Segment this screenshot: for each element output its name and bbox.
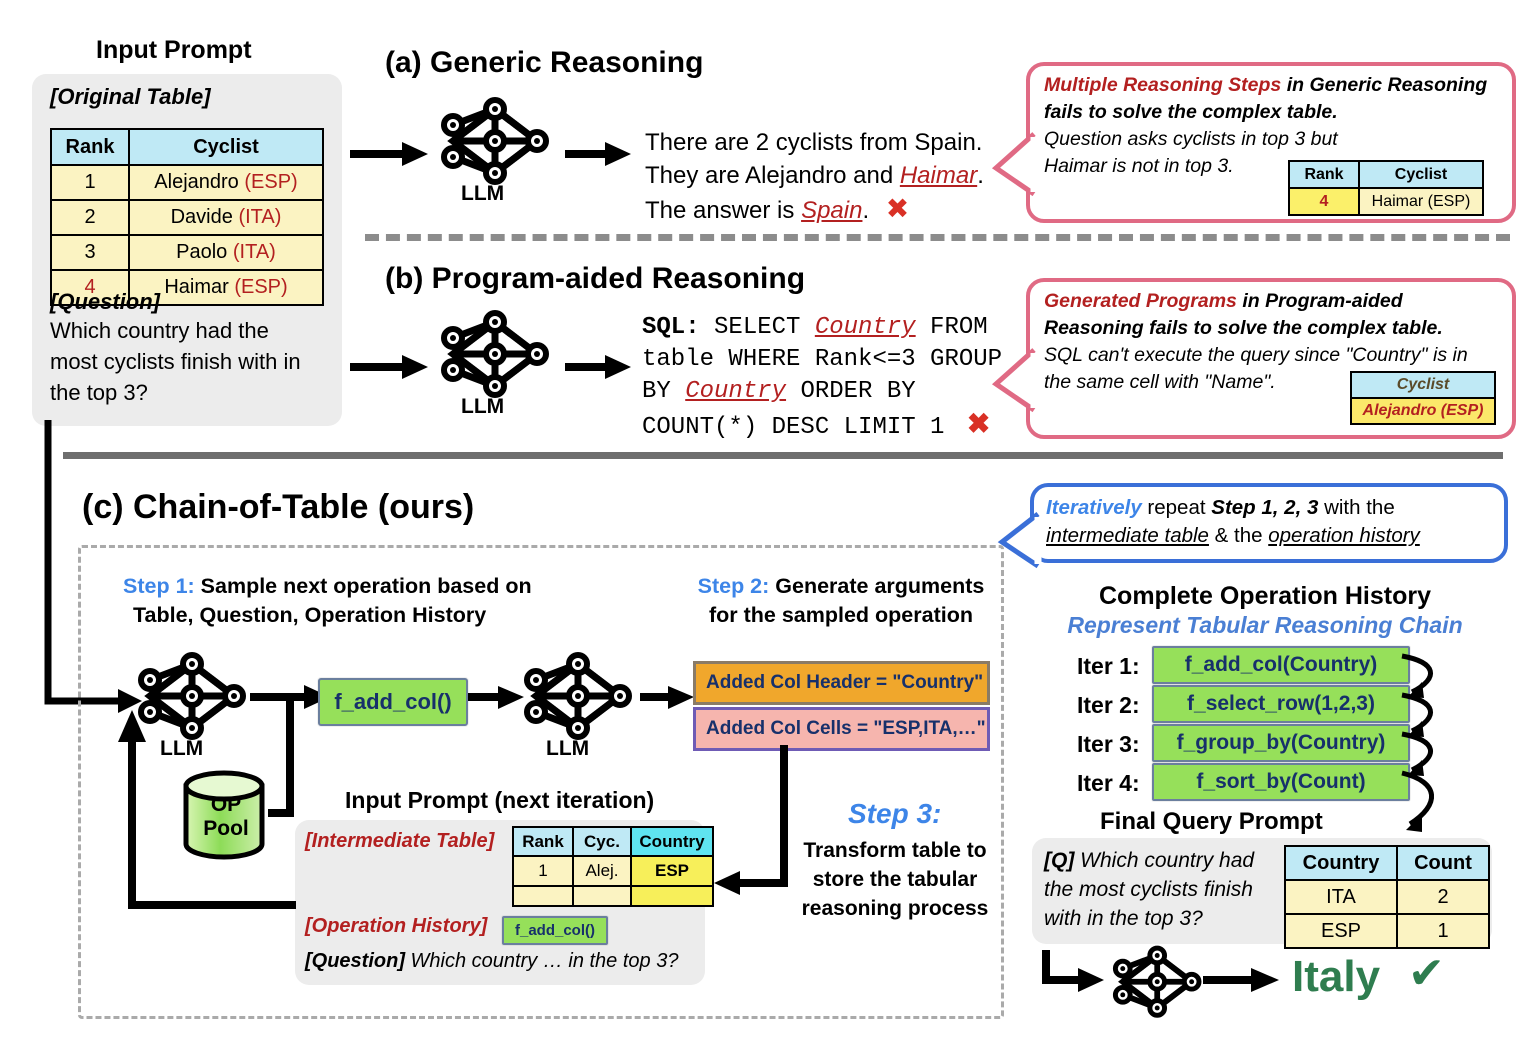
table-row: 2 Davide (ITA): [51, 200, 323, 235]
sql-l1b: FROM: [916, 314, 988, 341]
step1-heading: Step 1: Sample next operation based on T…: [123, 572, 593, 630]
step3-line1: Transform table to: [790, 836, 1000, 865]
history-op-box-3[interactable]: f_group_by(Country): [1152, 724, 1410, 762]
wrong-mark-icon: ✖: [886, 193, 909, 224]
arrow-out-llm-a: [565, 140, 635, 168]
arrow-out-llm-b: [565, 353, 635, 381]
final-cell-country: ESP: [1285, 914, 1397, 948]
sql-l4: COUNT(*) DESC LIMIT 1: [642, 414, 944, 441]
cell-cyclist: Paolo (ITA): [129, 235, 323, 270]
history-iter-label-1: Iter 1:: [1077, 653, 1140, 680]
output-line-1: There are 2 cyclists from Spain.: [645, 126, 1025, 159]
sql-l1a: SELECT: [700, 314, 815, 341]
history-chain-arrows: [1396, 650, 1466, 865]
table-row: 3 Paolo (ITA): [51, 235, 323, 270]
cyclist-country: (ESP): [234, 276, 287, 298]
callout-b-bold: Generated Programs in Program-aided Reas…: [1044, 288, 1499, 342]
callout-c-steps: Step 1, 2, 3: [1211, 496, 1318, 519]
llm-icon-c2: [518, 650, 640, 744]
sql-l3-emphasis: Country: [685, 378, 786, 405]
output-line-2: They are Alejandro and Haimar.: [645, 159, 1025, 192]
sql-line-4: COUNT(*) DESC LIMIT 1 ✖: [642, 408, 1042, 444]
mini-cell-cyclist: Haimar (ESP): [1359, 188, 1483, 215]
final-cell-count: 2: [1397, 880, 1489, 914]
original-table: Rank Cyclist 1 Alejandro (ESP) 2 Davide …: [50, 128, 324, 306]
inter-cell-country: [631, 886, 713, 906]
step2-text2: for the sampled operation: [676, 601, 1006, 630]
input-prompt-title: Input Prompt: [96, 36, 252, 65]
question-label: [Question]: [50, 289, 160, 315]
cell-rank: 1: [51, 165, 129, 200]
op-history-chip[interactable]: f_add_col(): [502, 916, 608, 945]
inter-cell-rank: [513, 886, 573, 906]
final-prompt-title: Final Query Prompt: [1100, 808, 1323, 836]
col-header-rank: Rank: [51, 129, 129, 165]
mini-cell-cyclist: Alejandro (ESP): [1351, 398, 1495, 424]
next-prompt-question: [Question] Which country … in the top 3?: [305, 950, 678, 973]
cyclist-name: Alejandro: [154, 171, 239, 193]
inter-col-cyc: Cyc.: [573, 827, 631, 856]
arrow-into-llm-a: [350, 140, 430, 168]
cell-cyclist: Davide (ITA): [129, 200, 323, 235]
cyclist-country: (ESP): [244, 171, 297, 193]
table-row: 1 Alej. ESP: [513, 856, 713, 886]
cyclist-country: (ITA): [238, 206, 281, 228]
final-col-count: Count: [1397, 846, 1489, 880]
table-row: ITA 2: [1285, 880, 1489, 914]
llm-icon-final: [1108, 944, 1208, 1022]
arrow-feedback-loop: [110, 700, 320, 915]
history-iter-label-3: Iter 3:: [1077, 731, 1140, 758]
step2-line1: Step 2: Generate arguments: [676, 572, 1006, 601]
next-question-text: Which country … in the top 3?: [405, 950, 678, 972]
history-iter-label-2: Iter 2:: [1077, 692, 1140, 719]
history-title: Complete Operation History: [1030, 582, 1500, 611]
step2-label: Step 2:: [698, 574, 770, 598]
llm-icon-b: [435, 308, 557, 402]
sql-l3b: ORDER BY: [786, 378, 916, 405]
callout-c-line2: intermediate table & the operation histo…: [1046, 522, 1496, 550]
step2-heading: Step 2: Generate arguments for the sampl…: [676, 572, 1006, 630]
separator-solid: [63, 452, 1503, 459]
cyclist-name: Haimar: [164, 276, 228, 298]
mini-col-cyclist: Cyclist: [1351, 372, 1495, 398]
callout-c-tail: [1000, 512, 1044, 572]
step3-line3: reasoning process: [790, 894, 1000, 923]
sql-line-3: BY Country ORDER BY: [642, 376, 1042, 408]
llm-label-a: LLM: [461, 182, 504, 206]
inter-cell-cyc: Alej.: [573, 856, 631, 886]
arrow-llm2-to-args: [640, 686, 698, 714]
callout-a-bold-red: Multiple Reasoning Steps: [1044, 74, 1281, 96]
table-row: [513, 886, 713, 906]
arrow-to-answer: [1203, 968, 1283, 996]
callout-b-bold-red: Generated Programs: [1044, 290, 1237, 312]
arrow-into-llm-b: [350, 353, 430, 381]
separator-dashed: [365, 234, 1510, 241]
callout-a-bold: Multiple Reasoning Steps in Generic Reas…: [1044, 72, 1496, 126]
inter-cell-cyc: [573, 886, 631, 906]
callout-b-tail: [994, 348, 1040, 418]
cell-cyclist: Alejandro (ESP): [129, 165, 323, 200]
step1-label: Step 1:: [123, 574, 195, 598]
callout-a-mini-table: Rank Cyclist 4 Haimar (ESP): [1288, 160, 1484, 216]
history-op-box-2[interactable]: f_select_row(1,2,3): [1152, 685, 1410, 723]
callout-c-operation-history: operation history: [1268, 524, 1420, 547]
out3-pre: The answer is: [645, 197, 801, 224]
out2-emphasis: Haimar: [900, 162, 977, 189]
step1-text2: Table, Question, Operation History: [123, 601, 593, 630]
sql-line-2: table WHERE Rank<=3 GROUP: [642, 344, 1042, 376]
sql-l3a: BY: [642, 378, 685, 405]
mini-cell-rank: 4: [1289, 188, 1359, 215]
callout-c-p1a: repeat: [1142, 496, 1212, 519]
out2-post: .: [977, 162, 984, 189]
out2-pre: They are Alejandro and: [645, 162, 900, 189]
llm-label-b: LLM: [461, 395, 504, 419]
final-q-l3: with in the top 3?: [1044, 904, 1294, 933]
final-q-line1: [Q] Which country had: [1044, 846, 1294, 875]
sql-prefix: SQL:: [642, 314, 700, 341]
llm-icon-a: [435, 95, 557, 189]
section-a-title: (a) Generic Reasoning: [385, 46, 703, 80]
output-line-3: The answer is Spain. ✖: [645, 192, 1025, 227]
final-cell-count: 1: [1397, 914, 1489, 948]
inter-cell-country: ESP: [631, 856, 713, 886]
step3-line2: store the tabular: [790, 865, 1000, 894]
final-result-table: Country Count ITA 2 ESP 1: [1284, 845, 1490, 949]
history-op-box-1[interactable]: f_add_col(Country): [1152, 646, 1410, 684]
cyclist-name: Davide: [171, 206, 233, 228]
mini-col-cyclist: Cyclist: [1359, 161, 1483, 188]
arg-col-header-box[interactable]: Added Col Header = "Country": [693, 661, 990, 705]
table-row: 4 Haimar (ESP): [1289, 188, 1483, 215]
callout-c-line1: Iteratively repeat Step 1, 2, 3 with the: [1046, 494, 1496, 522]
final-cell-country: ITA: [1285, 880, 1397, 914]
inter-cell-rank: 1: [513, 856, 573, 886]
intermediate-table-label: [Intermediate Table]: [305, 830, 494, 853]
step1-text1: Sample next operation based on: [195, 574, 532, 598]
table-row: ESP 1: [1285, 914, 1489, 948]
callout-b-mini-table: Cyclist Alejandro (ESP): [1350, 371, 1496, 425]
out3-post: .: [862, 197, 869, 224]
question-text: Which country had the most cyclists fini…: [50, 315, 320, 408]
callout-c-p1c: with the: [1318, 496, 1394, 519]
callout-a-tail: [994, 132, 1040, 202]
table-row: Alejandro (ESP): [1351, 398, 1495, 424]
sql-line-1: SQL: SELECT Country FROM: [642, 312, 1042, 344]
callout-c-intermediate-table: intermediate table: [1046, 524, 1209, 547]
history-subtitle: Represent Tabular Reasoning Chain: [1030, 612, 1500, 639]
step2-text1: Generate arguments: [769, 574, 984, 598]
inter-col-country: Country: [631, 827, 713, 856]
history-op-box-4[interactable]: f_sort_by(Count): [1152, 763, 1410, 801]
intermediate-table: Rank Cyc. Country 1 Alej. ESP: [512, 826, 714, 907]
original-table-label: [Original Table]: [50, 84, 211, 110]
wrong-mark-icon: ✖: [967, 408, 990, 439]
llm-label-c2: LLM: [546, 737, 589, 761]
callout-c-p2b: & the: [1209, 524, 1268, 547]
cell-rank: 3: [51, 235, 129, 270]
table-row: 1 Alejandro (ESP): [51, 165, 323, 200]
section-b-sql: SQL: SELECT Country FROM table WHERE Ran…: [642, 312, 1042, 444]
final-col-country: Country: [1285, 846, 1397, 880]
section-c-title: (c) Chain-of-Table (ours): [82, 488, 474, 527]
section-a-output: There are 2 cyclists from Spain. They ar…: [645, 126, 1025, 227]
step3-label: Step 3:: [848, 798, 941, 830]
step1-line1: Step 1: Sample next operation based on: [123, 572, 593, 601]
cyclist-name: Paolo: [176, 241, 227, 263]
next-question-label: [Question]: [305, 950, 405, 972]
out3-emphasis: Spain: [801, 197, 862, 224]
arrow-final-elbow: [1040, 948, 1110, 1008]
callout-c-iteratively: Iteratively: [1046, 496, 1142, 519]
step3-text: Transform table to store the tabular rea…: [790, 836, 1000, 923]
correct-mark-icon: ✔: [1408, 948, 1445, 999]
mini-col-rank: Rank: [1289, 161, 1359, 188]
col-header-cyclist: Cyclist: [129, 129, 323, 165]
op-history-label: [Operation History]: [305, 915, 487, 938]
final-question-text: [Q] Which country had the most cyclists …: [1044, 846, 1294, 933]
final-q-l1: Which country had: [1074, 849, 1254, 872]
cyclist-country: (ITA): [233, 241, 276, 263]
inter-col-rank: Rank: [513, 827, 573, 856]
section-b-title: (b) Program-aided Reasoning: [385, 262, 805, 296]
cell-rank: 2: [51, 200, 129, 235]
final-q-l2: the most cyclists finish: [1044, 875, 1294, 904]
sql-l1-emphasis: Country: [815, 314, 916, 341]
history-iter-label-4: Iter 4:: [1077, 770, 1140, 797]
final-q-label: [Q]: [1044, 849, 1074, 872]
callout-c-text: Iteratively repeat Step 1, 2, 3 with the…: [1046, 494, 1496, 550]
final-answer: Italy: [1292, 952, 1380, 1002]
arrow-args-to-table: [700, 745, 820, 895]
next-prompt-title: Input Prompt (next iteration): [345, 787, 654, 814]
sampled-op-box[interactable]: f_add_col(): [318, 678, 468, 726]
